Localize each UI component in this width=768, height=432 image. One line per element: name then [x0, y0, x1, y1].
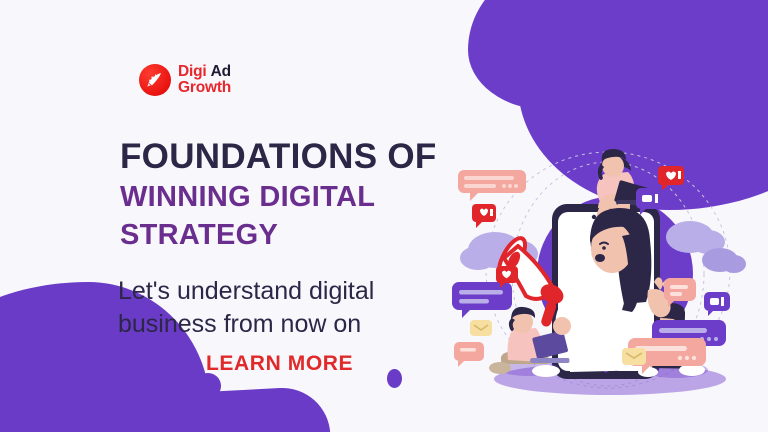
- decorative-dot-large: [195, 373, 221, 399]
- decorative-dot-medium: [163, 375, 183, 395]
- learn-more-link[interactable]: LEARN MORE: [206, 352, 353, 376]
- subheading-line-1: Let's understand digital: [118, 275, 374, 308]
- heart-reaction-badge-left: [472, 204, 496, 228]
- social-media-illustration: [440, 142, 768, 404]
- hero-illustration: [440, 142, 768, 404]
- brand-name-part3: Growth: [178, 80, 231, 96]
- headline-line-1: FOUNDATIONS OF: [120, 137, 437, 178]
- brand-logo-text: Digi Ad Growth: [178, 64, 231, 96]
- chat-bubble-salmon-left-lower: [454, 342, 484, 367]
- rocket-in-circle-icon: [139, 64, 171, 96]
- heart-reaction-badge-right: [658, 166, 684, 191]
- brand-name-part1: Digi: [178, 63, 206, 80]
- brand-name-part2: Ad: [211, 63, 231, 80]
- decorative-dot-top-right: [604, 120, 623, 139]
- rocket-glyph: [146, 72, 163, 88]
- chat-bubble-top-pink: [458, 170, 526, 201]
- subheading-block: Let's understand digital business from n…: [118, 275, 374, 341]
- decorative-dot-small: [152, 350, 166, 364]
- decorative-dot-bottom-center: [387, 369, 402, 388]
- cloud-icon-right-small: [702, 248, 746, 273]
- brand-logo[interactable]: Digi Ad Growth: [139, 64, 231, 96]
- mail-badge-yellow-right: [622, 348, 646, 365]
- headline-line-2: WINNING DIGITAL: [120, 178, 437, 216]
- headline-block: FOUNDATIONS OF WINNING DIGITAL STRATEGY: [120, 137, 437, 254]
- chat-bubble-purple-left-large: [452, 282, 512, 318]
- headline-line-3: STRATEGY: [120, 216, 437, 254]
- subheading-line-2: business from now on: [118, 308, 374, 341]
- chat-bubble-purple-mid-right: [704, 292, 730, 316]
- mail-badge-yellow-left: [470, 320, 492, 336]
- promo-banner: Digi Ad Growth FOUNDATIONS OF WINNING DI…: [0, 0, 768, 432]
